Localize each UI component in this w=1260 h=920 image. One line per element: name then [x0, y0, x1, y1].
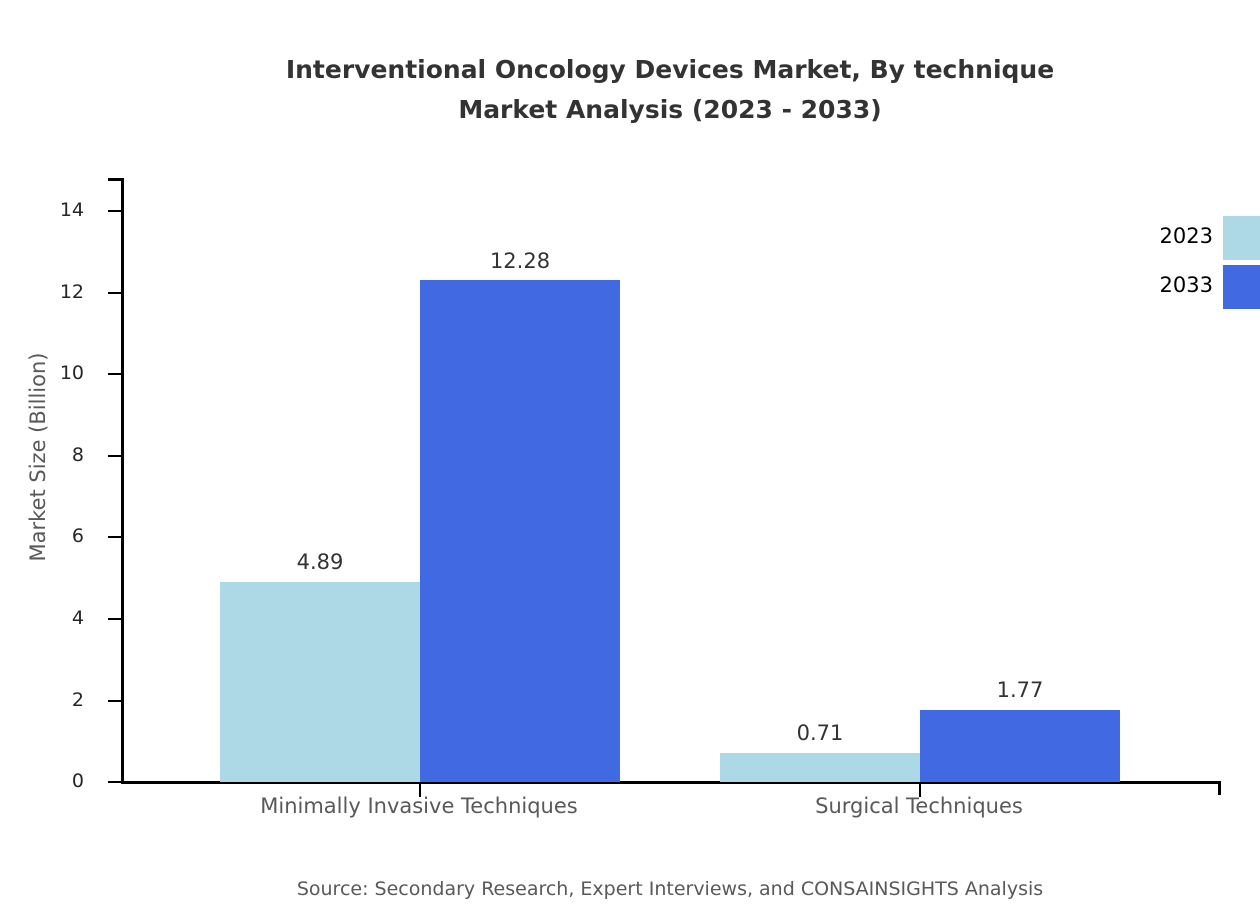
y-tick-mark-14: [108, 210, 121, 212]
y-axis-spine: [121, 178, 124, 784]
chart-title-line-1: Interventional Oncology Devices Market, …: [286, 55, 1054, 84]
y-tick-label-6: 6: [72, 525, 84, 547]
y-tick-mark-8: [108, 455, 121, 457]
bar-2033-surgical-techniques[interactable]: [920, 710, 1120, 782]
y-tick-label-12: 12: [60, 281, 84, 303]
legend-label-2023: 2023: [1110, 224, 1213, 248]
y-tick-label-0: 0: [72, 770, 84, 792]
y-tick-mark-4: [108, 618, 121, 620]
x-axis-end-cap: [1218, 781, 1221, 795]
legend-swatch-2023-icon: [1223, 216, 1260, 260]
bar-value-label-2023-surgical-techniques: 0.71: [720, 721, 920, 745]
chart-title: Interventional Oncology Devices Market, …: [0, 50, 1260, 130]
y-tick-label-4: 4: [72, 607, 84, 629]
chart-legend: 2023 2033: [1110, 214, 1260, 312]
bar-value-label-2033-minimally-invasive-techniques: 12.28: [420, 249, 620, 273]
legend-item-2033[interactable]: 2033: [1110, 263, 1260, 312]
y-tick-label-8: 8: [72, 444, 84, 466]
legend-label-2033: 2033: [1110, 273, 1213, 297]
y-tick-mark-12: [108, 292, 121, 294]
y-axis-top-cap: [108, 178, 121, 181]
bar-value-label-2033-surgical-techniques: 1.77: [920, 678, 1120, 702]
x-tick-label-surgical-techniques: Surgical Techniques: [719, 794, 1119, 818]
legend-item-2023[interactable]: 2023: [1110, 214, 1260, 263]
bar-2023-surgical-techniques[interactable]: [720, 753, 920, 782]
source-note: Source: Secondary Research, Expert Inter…: [0, 878, 1260, 900]
y-tick-mark-6: [108, 536, 121, 538]
chart-figure: Interventional Oncology Devices Market, …: [0, 0, 1260, 920]
y-tick-mark-2: [108, 700, 121, 702]
y-tick-mark-0: [108, 781, 121, 783]
y-tick-label-14: 14: [60, 199, 84, 221]
chart-title-line-2: Market Analysis (2023 - 2033): [0, 90, 1260, 130]
y-tick-label-2: 2: [72, 689, 84, 711]
bar-2023-minimally-invasive-techniques[interactable]: [220, 582, 420, 782]
bar-2033-minimally-invasive-techniques[interactable]: [420, 280, 620, 782]
legend-swatch-2033-icon: [1223, 265, 1260, 309]
y-tick-mark-10: [108, 373, 121, 375]
y-tick-label-10: 10: [60, 362, 84, 384]
x-tick-label-minimally-invasive-techniques: Minimally Invasive Techniques: [219, 794, 619, 818]
y-axis-label: Market Size (Billion): [26, 177, 50, 737]
bar-value-label-2023-minimally-invasive-techniques: 4.89: [220, 550, 420, 574]
